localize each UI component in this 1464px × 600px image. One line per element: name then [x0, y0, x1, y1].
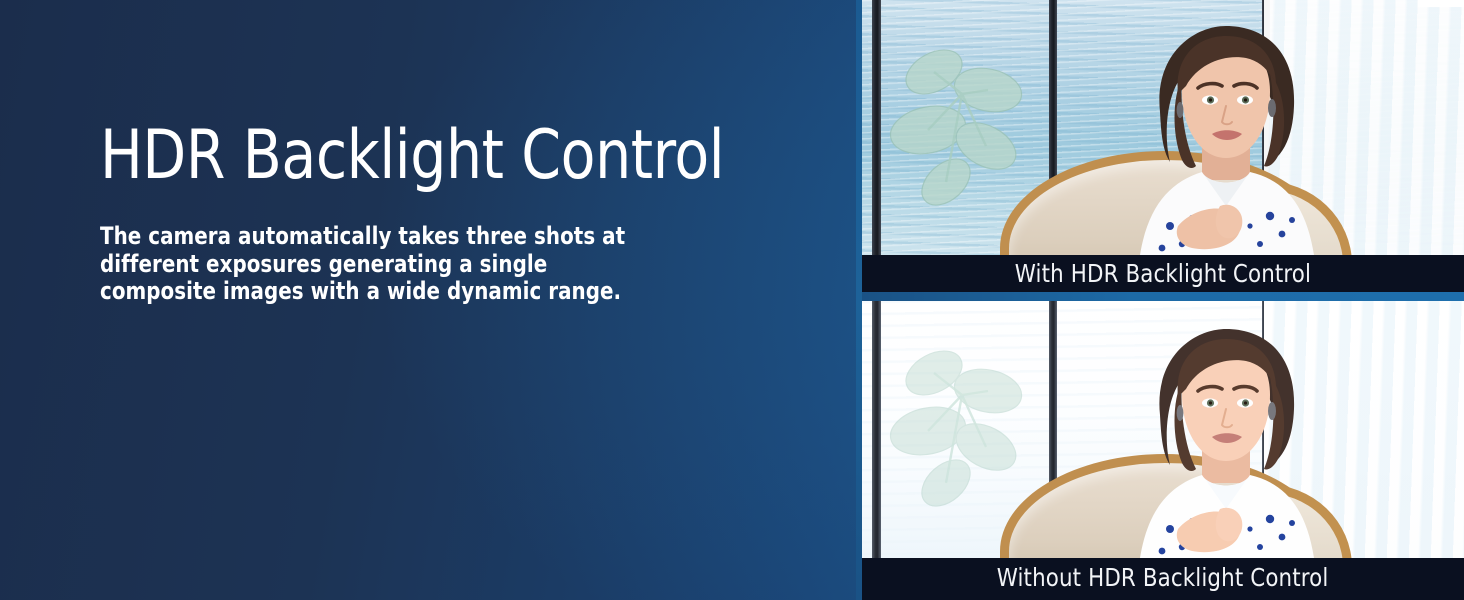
- woman-portrait: [1074, 323, 1374, 558]
- caption-bar-without-hdr: Without HDR Backlight Control: [862, 558, 1464, 600]
- caption-label-with-hdr: With HDR Backlight Control: [1015, 259, 1311, 288]
- page-title: HDR Backlight Control: [100, 118, 658, 194]
- scene-without-hdr: [862, 301, 1464, 558]
- scene-with-hdr: [862, 0, 1464, 255]
- woman-portrait: [1074, 20, 1374, 255]
- caption-bar-with-hdr: With HDR Backlight Control: [862, 255, 1464, 292]
- comparison-panel-with-hdr: With HDR Backlight Control: [862, 0, 1464, 292]
- panel-divider: [862, 292, 1464, 301]
- photo-without-hdr: [862, 301, 1464, 558]
- comparison-panel-without-hdr: Without HDR Backlight Control: [862, 301, 1464, 600]
- headline-description: The camera automatically takes three sho…: [100, 223, 652, 306]
- curtain-highlight: [1418, 0, 1464, 7]
- headline-block: HDR Backlight Control The camera automat…: [100, 118, 700, 306]
- caption-label-without-hdr: Without HDR Backlight Control: [997, 563, 1329, 592]
- photo-with-hdr: [862, 0, 1464, 255]
- hdr-backlight-control-banner: HDR Backlight Control The camera automat…: [0, 0, 1464, 600]
